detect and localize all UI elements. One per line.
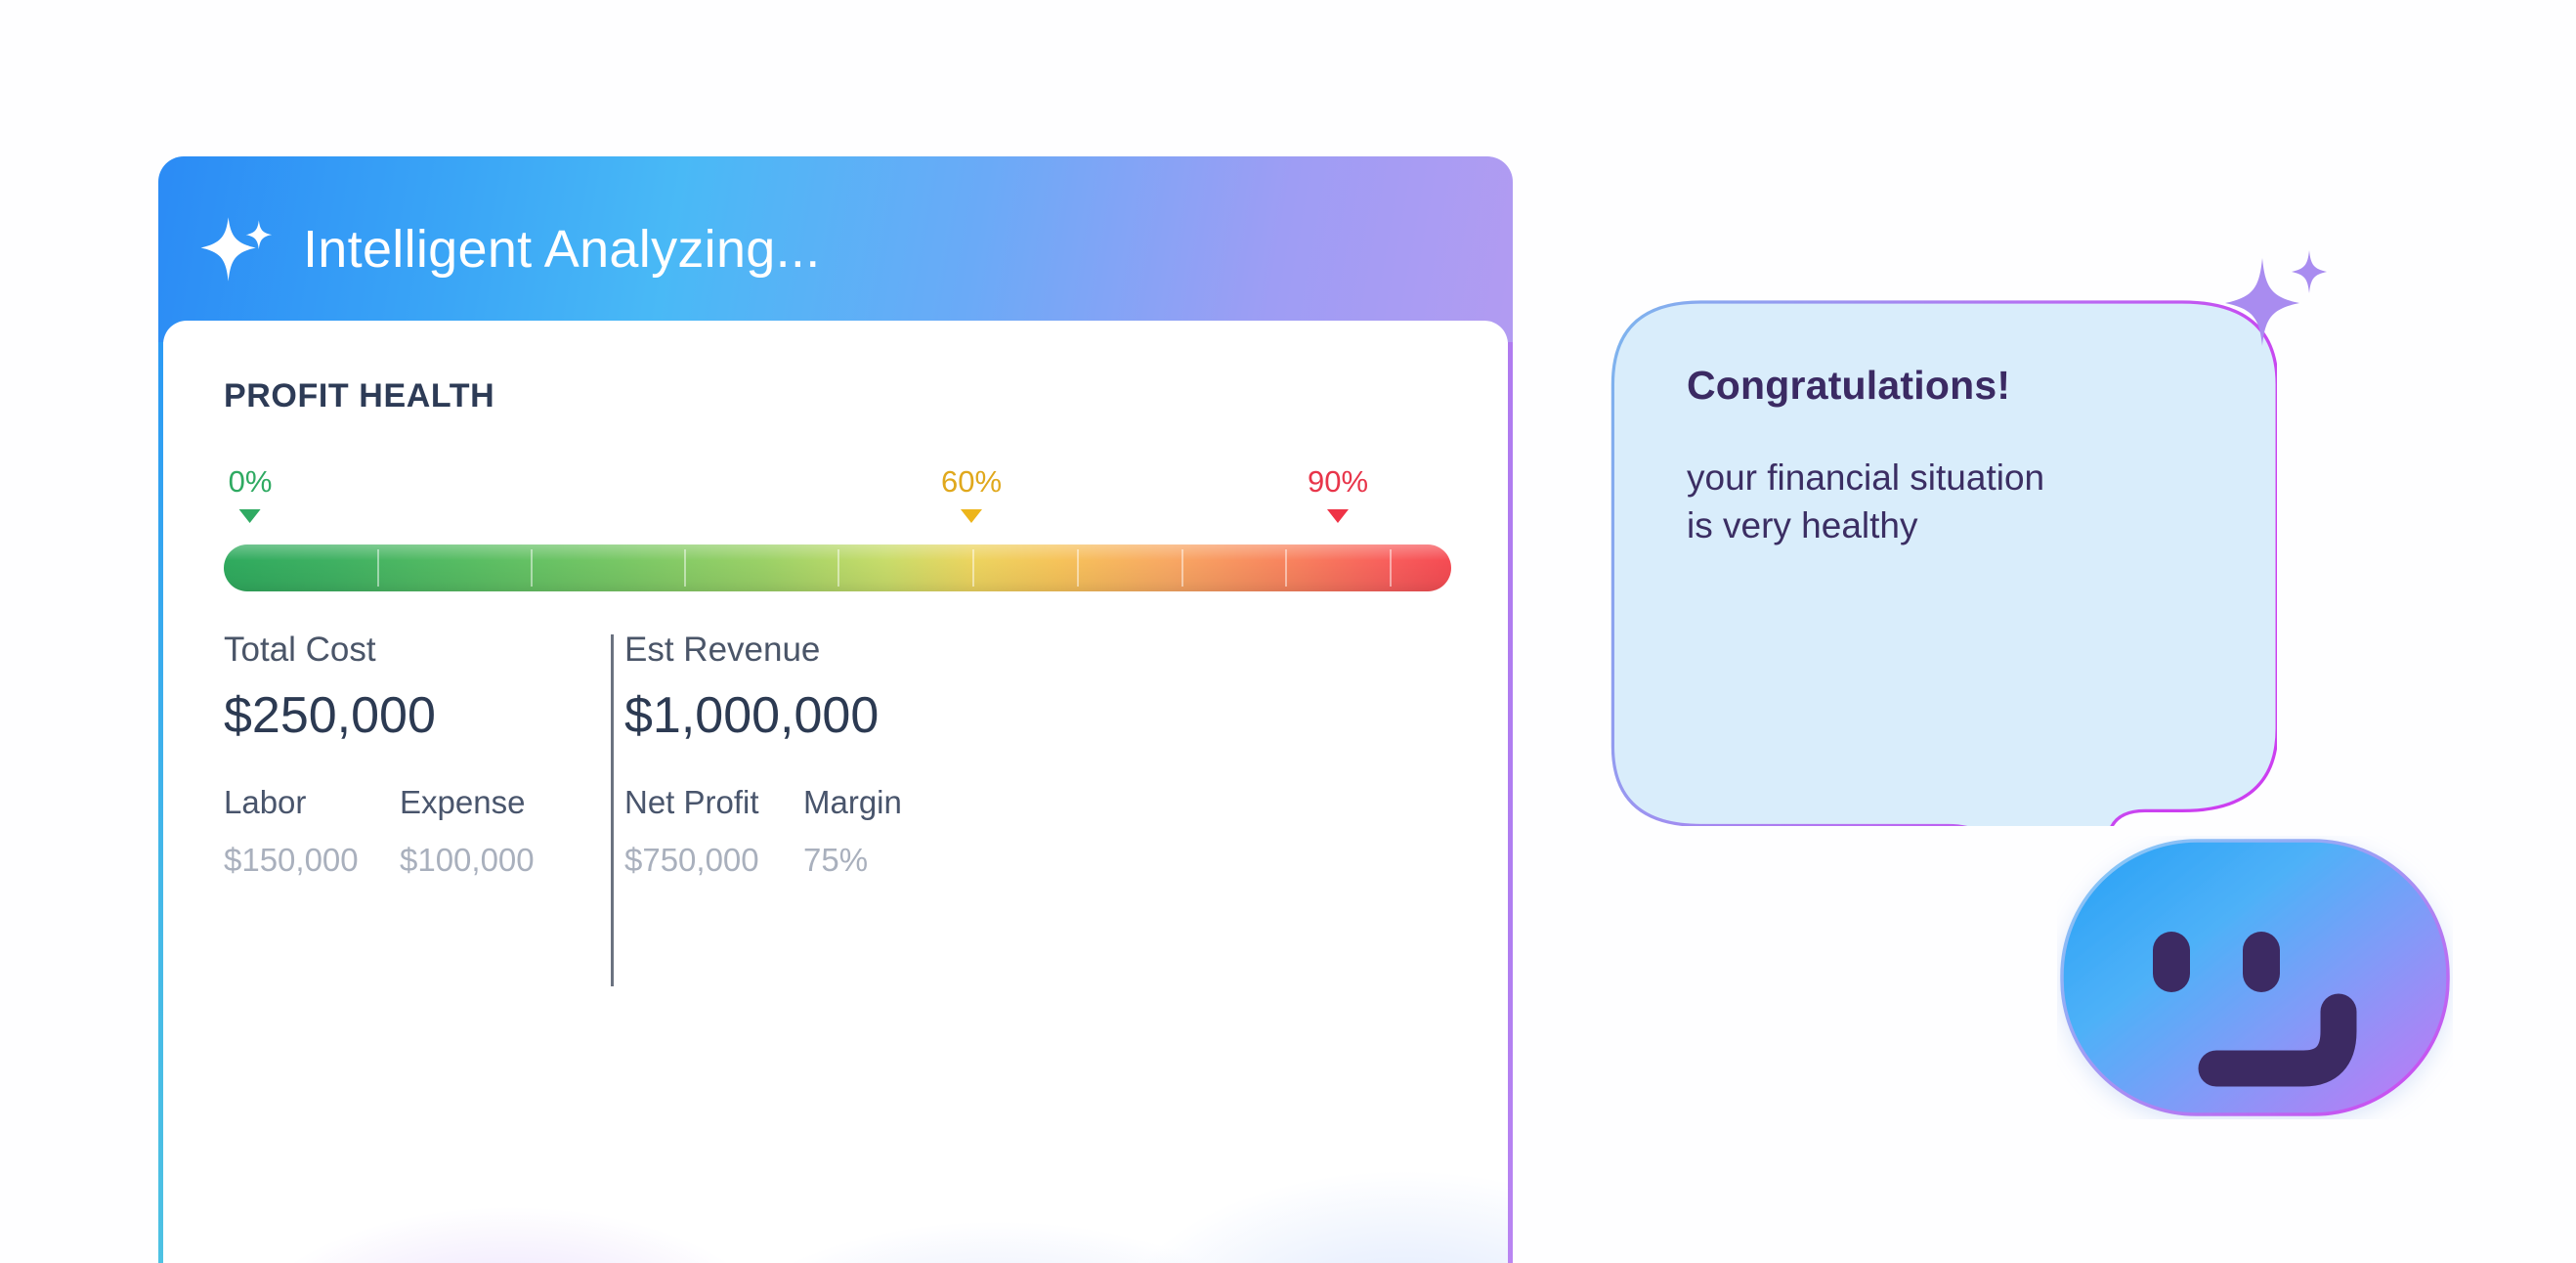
gauge-marker-triangle-icon (239, 509, 261, 523)
card-border-left (158, 342, 163, 1263)
avatar-right-eye (2243, 932, 2280, 992)
net-profit-metric: Net Profit $750,000 (624, 786, 803, 876)
profit-health-gauge: 0% 60% 90% (224, 466, 1447, 591)
gauge-tick (377, 549, 379, 587)
total-cost-label: Total Cost (224, 632, 583, 667)
net-profit-value: $750,000 (624, 844, 803, 876)
labor-value: $150,000 (224, 844, 400, 876)
gauge-marker-60: 60% (941, 466, 1002, 523)
analysis-card: Intelligent Analyzing... PROFIT HEALTH 0… (158, 156, 1513, 1263)
section-title: PROFIT HEALTH (224, 377, 1447, 415)
labor-label: Labor (224, 786, 400, 818)
gauge-marker-0: 0% (229, 466, 273, 523)
margin-metric: Margin 75% (803, 786, 902, 876)
card-title: Intelligent Analyzing... (303, 219, 821, 280)
avatar-left-eye (2153, 932, 2190, 992)
sparkle-decoration-icon (2223, 244, 2336, 352)
expense-label: Expense (400, 786, 535, 818)
gauge-track[interactable] (224, 544, 1451, 591)
assistant-avatar[interactable] (2057, 836, 2453, 1119)
card-border-right (1508, 342, 1513, 1263)
gauge-tick (972, 549, 974, 587)
labor-metric: Labor $150,000 (224, 786, 400, 876)
gauge-tick (1181, 549, 1183, 587)
congratulations-heading: Congratulations! (1687, 362, 2214, 410)
margin-value: 75% (803, 844, 902, 876)
metrics-column-cost: Total Cost $250,000 Labor $150,000 Expen… (224, 632, 583, 876)
margin-label: Margin (803, 786, 902, 818)
gauge-marker-90: 90% (1308, 466, 1368, 523)
gauge-tick (1077, 549, 1079, 587)
expense-value: $100,000 (400, 844, 535, 876)
cost-breakdown-row: Labor $150,000 Expense $100,000 (224, 786, 583, 876)
gauge-tick (1285, 549, 1287, 587)
total-cost-value: $250,000 (224, 690, 583, 741)
gauge-marker-label: 60% (941, 466, 1002, 497)
message-line-1: your financial situation (1687, 455, 2214, 502)
metrics-grid: Total Cost $250,000 Labor $150,000 Expen… (224, 632, 1447, 876)
gauge-tick (684, 549, 686, 587)
net-profit-label: Net Profit (624, 786, 803, 818)
gauge-tick (1390, 549, 1392, 587)
screen-canvas: Intelligent Analyzing... PROFIT HEALTH 0… (0, 0, 2576, 1263)
gauge-marker-triangle-icon (961, 509, 982, 523)
gauge-tick (837, 549, 839, 587)
gauge-marker-label: 90% (1308, 466, 1368, 497)
message-line-2: is very healthy (1687, 502, 2214, 550)
card-body: PROFIT HEALTH 0% 60% 90% (163, 321, 1508, 1263)
gauge-marker-label: 0% (229, 466, 273, 497)
speech-bubble-text: Congratulations! your financial situatio… (1687, 362, 2214, 550)
gauge-tick (531, 549, 533, 587)
sparkle-icon (199, 211, 276, 287)
gauge-marker-triangle-icon (1327, 509, 1349, 523)
revenue-breakdown-row: Net Profit $750,000 Margin 75% (624, 786, 902, 876)
metrics-column-revenue: Est Revenue $1,000,000 Net Profit $750,0… (583, 632, 902, 876)
card-header: Intelligent Analyzing... (158, 156, 1513, 342)
speech-bubble: Congratulations! your financial situatio… (1603, 293, 2277, 826)
est-revenue-value: $1,000,000 (624, 690, 902, 741)
est-revenue-label: Est Revenue (624, 632, 902, 667)
expense-metric: Expense $100,000 (400, 786, 535, 876)
speech-bubble-message: your financial situation is very healthy (1687, 455, 2214, 550)
